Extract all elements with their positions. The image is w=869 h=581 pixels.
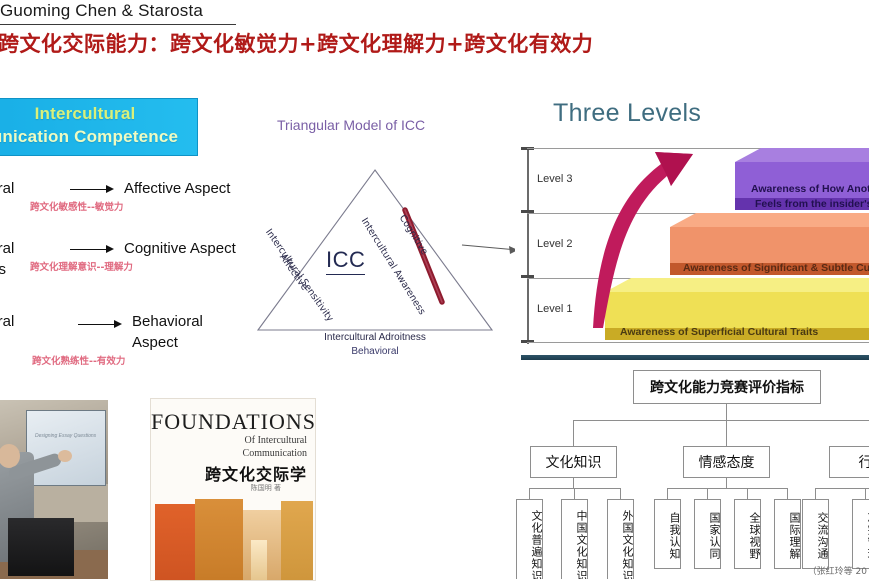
book-cover-artwork <box>151 499 315 580</box>
axis-label-level-3: Level 3 <box>537 173 572 185</box>
org-connector <box>529 488 621 489</box>
banner-line-2: unication Competence <box>0 127 197 147</box>
row-left-line1: cultural <box>0 313 14 330</box>
row-cn-note: 跨文化敏感性--敏觉力 <box>30 199 123 213</box>
org-connector <box>787 488 788 499</box>
photo-screen-text: Designing Essay Questions <box>35 433 96 439</box>
org-connector <box>574 488 575 499</box>
axis-label-level-2: Level 2 <box>537 238 572 250</box>
org-leaf: 中国文化知识 <box>561 499 588 579</box>
org-connector <box>707 488 708 499</box>
org-leaf: 全球视野 <box>734 499 761 569</box>
row-left-line1: cultural <box>0 240 14 257</box>
header-author: Guoming Chen & Starosta <box>0 1 203 21</box>
row-left-text: cultural ness <box>0 311 74 354</box>
org-connector <box>747 488 748 499</box>
triangle-title: Triangular Model of ICC <box>277 117 425 133</box>
org-connector <box>573 420 869 421</box>
org-connector <box>667 488 787 489</box>
org-connector <box>815 488 869 489</box>
level-axis <box>527 148 529 344</box>
org-connector <box>726 404 727 420</box>
org-leaf: 交流沟通 <box>802 499 829 569</box>
art-block <box>281 501 313 580</box>
slide-canvas: Guoming Chen & Starosta 跨文化交际能力：跨文化敏觉力+跨… <box>0 0 869 579</box>
book-cover: FOUNDATIONS Of Intercultural Communicati… <box>150 398 316 581</box>
book-title-cn: 跨文化交际学 <box>205 461 307 485</box>
org-connector <box>865 488 866 499</box>
art-block <box>195 499 243 580</box>
row-cn-note: 跨文化理解意识--理解力 <box>30 259 133 273</box>
slab-level-3-text-line2: Feels from the insider's Perspe <box>755 198 869 210</box>
org-leaf: 国家认同 <box>694 499 721 569</box>
org-connector <box>573 420 574 446</box>
triangle-label-intercultural-adroitness: Intercultural Adroitness <box>285 332 465 343</box>
slab-level-3-text-line1: Awareness of How Another Cu <box>751 183 869 195</box>
org-leaf: 国际理解 <box>774 499 801 569</box>
art-block <box>155 504 195 580</box>
arrow-right-icon <box>70 245 118 254</box>
row-right-line1: Behavioral <box>132 313 203 330</box>
org-connector <box>726 420 727 446</box>
org-leaf: 外国文化知识 <box>607 499 634 579</box>
book-author-cn: 陈国明 著 <box>251 483 281 493</box>
org-leaf: 冲突管理 <box>852 499 869 569</box>
org-branch-emotional-attitude: 情感态度 <box>683 446 770 478</box>
org-leaf: 文化普遍知识 <box>516 499 543 579</box>
org-connector <box>573 478 574 488</box>
book-subtitle-line2: Communication <box>243 448 307 459</box>
arrow-right-icon <box>78 320 126 329</box>
axis-label-level-1: Level 1 <box>537 303 572 315</box>
book-title: FOUNDATIONS <box>151 409 315 435</box>
three-levels-title: Three Levels <box>553 99 701 128</box>
org-leaf: 自我认知 <box>654 499 681 569</box>
org-branch-cultural-knowledge: 文化知识 <box>530 446 617 478</box>
org-chart-credit: （张红玲等 20 <box>808 564 867 577</box>
page-title: 跨文化交际能力：跨文化敏觉力+跨文化理解力+跨文化有效力 <box>0 28 593 58</box>
photo-projection-screen: Designing Essay Questions <box>26 410 106 486</box>
org-connector <box>529 488 530 499</box>
book-subtitle: Of Intercultural Communication <box>243 435 307 460</box>
triangle-label-behavioral: Behavioral <box>285 346 465 357</box>
art-highlight <box>251 540 267 580</box>
intercultural-competence-banner: Intercultural unication Competence <box>0 98 198 156</box>
org-connector <box>620 488 621 499</box>
org-branch-behavior: 行为 <box>829 446 869 478</box>
three-levels-diagram: Level 3 Level 2 Level 1 Awareness of Sup… <box>515 140 869 352</box>
photo-podium <box>8 518 74 576</box>
org-connector <box>726 478 727 488</box>
header-divider <box>0 24 236 25</box>
book-subtitle-line1: Of Intercultural <box>245 435 307 446</box>
section-divider <box>521 355 869 360</box>
org-connector <box>667 488 668 499</box>
banner-line-1: Intercultural <box>0 104 197 124</box>
org-connector <box>815 488 816 499</box>
curved-up-arrow-icon <box>575 142 715 332</box>
org-root-box: 跨文化能力竞赛评价指标 <box>633 370 821 404</box>
triangular-model-diagram: Affective Intercultural Sensitivity Inte… <box>230 150 520 375</box>
row-cn-note: 跨文化熟练性--有效力 <box>32 353 125 367</box>
row-left-line1: cultural <box>0 180 14 197</box>
lecturer-photo: Designing Essay Questions <box>0 400 108 579</box>
photo-person-hand <box>58 450 72 462</box>
triangle-center-label: ICC <box>326 247 365 275</box>
arrow-right-icon <box>70 185 118 194</box>
row-left-line2: eness <box>0 261 6 278</box>
row-right-line2: Aspect <box>132 334 178 351</box>
competition-criteria-org-chart: 跨文化能力竞赛评价指标 文化知识 情感态度 行为 文化普遍知识 中国文化知识 外… <box>515 362 869 579</box>
